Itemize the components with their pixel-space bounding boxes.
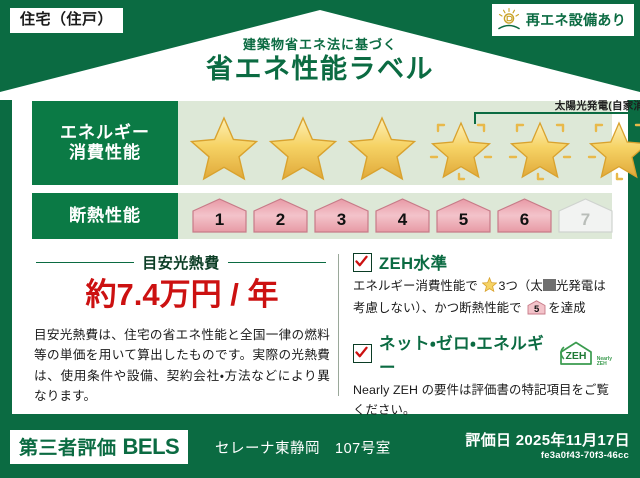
heading-rule-right bbox=[228, 262, 326, 263]
redacted-text-block bbox=[543, 279, 556, 291]
insulation-level-item: 1 bbox=[190, 197, 249, 235]
zeh-netzero-title: ネット・ゼロ・エネルギー bbox=[379, 330, 546, 378]
checkbox-checked-icon bbox=[353, 344, 372, 363]
zeh-column: ZEH水準 エネルギー消費性能で 3つ（太光発電は考慮しない）、かつ断熱性能で bbox=[351, 250, 612, 402]
insulation-performance-row: 断熱性能 1 bbox=[32, 193, 612, 239]
star-icon bbox=[267, 107, 345, 179]
zeh-logo: ZEH Nearly ZEH bbox=[557, 340, 612, 367]
label-title-group: 建築物省エネ法に基づく 省エネ性能ラベル bbox=[0, 34, 640, 83]
label-body-card: エネルギー 消費性能 太陽光発電(自家消費)分 bbox=[12, 92, 628, 414]
label-title: 省エネ性能ラベル bbox=[0, 55, 640, 83]
label-subtitle: 建築物省エネ法に基づく bbox=[0, 34, 640, 53]
evaluation-id: fe3a0f43-70f3-46cc bbox=[541, 450, 629, 461]
checkbox-checked-icon bbox=[353, 253, 372, 272]
solar-bracket bbox=[474, 112, 640, 124]
insulation-label: 断熱性能 bbox=[69, 206, 141, 226]
zeh-standard-block: ZEH水準 エネルギー消費性能で 3つ（太光発電は考慮しない）、かつ断熱性能で bbox=[353, 250, 612, 319]
bels-badge: 第三者評価 BELS bbox=[10, 430, 188, 464]
insulation-level-value: 2 bbox=[251, 210, 310, 230]
zeh-logo-sub2: ZEH bbox=[597, 362, 612, 367]
zeh-body-text-4: を達成 bbox=[548, 301, 585, 315]
insulation-level-item: 6 bbox=[495, 197, 554, 235]
house-type-label: 住宅（住戸） bbox=[20, 11, 113, 28]
house-type-badge: 住宅（住戸） bbox=[8, 6, 125, 35]
zeh-body-text-2: 3つ（太 bbox=[498, 279, 542, 293]
zeh-standard-title-row: ZEH水準 bbox=[353, 250, 612, 274]
insulation-level-item-inactive: 7 bbox=[556, 197, 615, 235]
bels-en-label: BELS bbox=[123, 434, 180, 460]
insulation-level-item: 5 bbox=[434, 197, 493, 235]
zeh-standard-body: エネルギー消費性能で 3つ（太光発電は考慮しない）、かつ断熱性能で 5 を達成 bbox=[353, 277, 612, 319]
insulation-performance-value: 1 2 3 bbox=[178, 193, 612, 239]
insulation-level-value: 6 bbox=[495, 210, 554, 230]
zeh-netzero-body: Nearly ZEH の要件は評価書の特記項目をご覧ください。 bbox=[353, 381, 612, 421]
energy-performance-key: エネルギー 消費性能 bbox=[32, 101, 178, 185]
label-header: 住宅（住戸） 再エネ設備あり 建築物省エネ法に基づく 省エネ性能ラベル bbox=[0, 0, 640, 100]
renewable-equipment-label: 再エネ設備あり bbox=[526, 10, 626, 30]
bels-jp-label: 第三者評価 bbox=[19, 433, 117, 460]
utility-cost-heading-label: 目安光熱費 bbox=[142, 252, 220, 273]
star-icon bbox=[188, 107, 266, 179]
heading-rule-left bbox=[36, 262, 134, 263]
insulation-level-icon-inline: 5 bbox=[527, 300, 546, 315]
insulation-level-value: 5 bbox=[434, 210, 493, 230]
insulation-level-item: 4 bbox=[373, 197, 432, 235]
utility-cost-note: 目安光熱費は、住宅の省エネ性能と全国一律の燃料等の単価を用いて算出したものです。… bbox=[34, 325, 330, 407]
solar-sun-icon bbox=[496, 7, 522, 33]
insulation-level-item: 3 bbox=[312, 197, 371, 235]
zeh-netzero-block: ネット・ゼロ・エネルギー ZEH Nearly ZEH bbox=[353, 330, 612, 421]
insulation-level-value: 3 bbox=[312, 210, 371, 230]
zeh-body-text-1: エネルギー消費性能で bbox=[353, 279, 478, 293]
label-lower-section: 目安光熱費 約7.4万円 / 年 目安光熱費は、住宅の省エネ性能と全国一律の燃料… bbox=[32, 250, 612, 402]
insulation-level-scale: 1 2 3 bbox=[190, 193, 608, 239]
insulation-level-item: 2 bbox=[251, 197, 310, 235]
zeh-netzero-title-row: ネット・ゼロ・エネルギー ZEH Nearly ZEH bbox=[353, 330, 612, 378]
insulation-level-icon-value: 5 bbox=[527, 302, 546, 317]
energy-performance-label: 住宅（住戸） 再エネ設備あり 建築物省エネ法に基づく 省エネ性能ラベル bbox=[0, 0, 640, 478]
insulation-performance-key: 断熱性能 bbox=[32, 193, 178, 239]
insulation-level-value: 1 bbox=[190, 210, 249, 230]
evaluation-date: 評価日 2025年11月17日 bbox=[465, 429, 630, 450]
energy-label-line2: 消費性能 bbox=[69, 143, 141, 162]
zeh-standard-title: ZEH水準 bbox=[379, 250, 448, 274]
insulation-level-value: 4 bbox=[373, 210, 432, 230]
zeh-house-logo-icon: ZEH bbox=[557, 340, 595, 367]
svg-text:ZEH: ZEH bbox=[565, 350, 586, 362]
property-name: セレーナ東静岡 107号室 bbox=[215, 437, 391, 458]
energy-label-line1: エネルギー bbox=[60, 123, 150, 142]
label-footer: 第三者評価 BELS セレーナ東静岡 107号室 評価日 2025年11月17日… bbox=[0, 420, 640, 478]
energy-performance-value: 太陽光発電(自家消費)分 bbox=[178, 101, 612, 185]
renewable-equipment-badge: 再エネ設備あり bbox=[492, 4, 634, 36]
utility-cost-heading: 目安光熱費 bbox=[36, 252, 326, 273]
insulation-level-value: 7 bbox=[556, 210, 615, 230]
utility-cost-column: 目安光熱費 約7.4万円 / 年 目安光熱費は、住宅の省エネ性能と全国一律の燃料… bbox=[32, 250, 332, 402]
star-icon bbox=[346, 107, 424, 179]
column-divider bbox=[338, 254, 339, 396]
energy-performance-row: エネルギー 消費性能 太陽光発電(自家消費)分 bbox=[32, 101, 612, 185]
star-icon-inline bbox=[482, 277, 497, 299]
utility-cost-value: 約7.4万円 / 年 bbox=[32, 278, 332, 312]
solar-caption: 太陽光発電(自家消費)分 bbox=[474, 98, 640, 113]
